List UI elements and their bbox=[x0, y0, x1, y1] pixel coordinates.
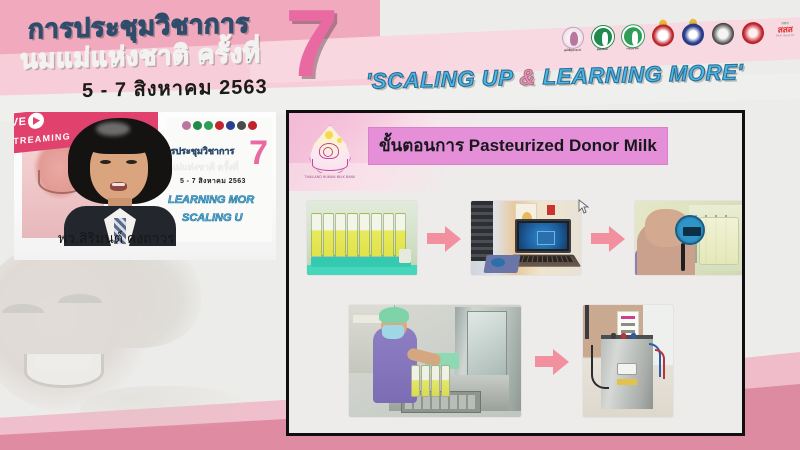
tagline-ampersand: & bbox=[519, 64, 542, 90]
droplet-cradle-arms bbox=[312, 159, 348, 171]
speaker-eye-left bbox=[100, 160, 111, 164]
slide-title: ขั้นตอนการ Pasteurized Donor Milk bbox=[368, 127, 668, 165]
arrow-3-icon bbox=[535, 348, 569, 374]
photo-pasteurizer-machine bbox=[583, 305, 673, 417]
institute-seal-logo bbox=[710, 23, 735, 52]
thaihealth-logo: สสส สสส THAI HEALTH bbox=[770, 21, 800, 50]
droplet-drop-large bbox=[325, 131, 333, 139]
process-row-2 bbox=[349, 305, 673, 417]
speaker-eye-right bbox=[126, 160, 137, 164]
speaker-mouth bbox=[110, 182, 127, 191]
droplet-baby-icon bbox=[319, 143, 339, 159]
process-row-1 bbox=[307, 201, 745, 275]
inner-poster-logos bbox=[166, 118, 272, 130]
conference-date: 5 - 7 สิงหาคม 2563 bbox=[82, 70, 268, 106]
university-crest-logo bbox=[650, 24, 675, 53]
speaker-name: พว.สิริมนต์ คงถาวร bbox=[58, 228, 175, 250]
photo-nurse-loading-bottles bbox=[349, 305, 521, 417]
video-inner-poster: การประชุมวิชาการ นมแม่แห่งชาติ ครั้งที่ … bbox=[166, 118, 272, 242]
droplet-logo-caption: THAILAND HUMAN MILK BANK bbox=[301, 175, 359, 179]
slide-screenshot: การประชุมวิชาการ นมแม่แห่งชาติ ครั้งที่ … bbox=[0, 0, 800, 450]
watermark-child-photo bbox=[0, 246, 294, 426]
live-badge-label: LIVE bbox=[14, 116, 26, 130]
tagline-prefix: 'SCALING UP bbox=[366, 65, 519, 94]
tagline-suffix: LEARNING MORE' bbox=[543, 59, 744, 89]
royal-crest-logo bbox=[680, 23, 705, 52]
watermark-teeth bbox=[34, 356, 92, 369]
inner-poster-tag-line2: SCALING U bbox=[182, 212, 243, 224]
ministry-public-health-logo: กรมอนามัย bbox=[620, 25, 645, 54]
droplet-drop-small bbox=[337, 138, 342, 143]
play-icon bbox=[28, 112, 44, 129]
royal-patronage-logo: มูลนิธิศูนย์นมแม่ bbox=[560, 26, 585, 55]
edition-number: 7 bbox=[285, 0, 338, 89]
watermark-body bbox=[80, 386, 260, 426]
arrow-1-icon bbox=[427, 225, 461, 251]
mouse-cursor bbox=[578, 199, 590, 215]
medical-council-logo bbox=[740, 22, 765, 51]
slide-content-panel: THAILAND HUMAN MILK BANK ขั้นตอนการ Past… bbox=[286, 110, 745, 436]
photo-milk-bottles-crate bbox=[307, 201, 417, 275]
inner-poster-date: 5 - 7 สิงหาคม 2563 bbox=[180, 176, 246, 187]
thai-breastfeeding-centre-logo: ศูนย์นมแม่ bbox=[590, 26, 615, 55]
photo-laptop-workstation bbox=[471, 201, 581, 275]
inner-poster-tag-line1: LEARNING MOR bbox=[168, 194, 254, 206]
milk-bank-droplet-logo: THAILAND HUMAN MILK BANK bbox=[301, 121, 359, 185]
inner-poster-edition: 7 bbox=[249, 136, 268, 170]
speaker-figure bbox=[62, 118, 178, 240]
speaker-hair-highlight bbox=[96, 122, 130, 136]
photo-hand-thermometer bbox=[635, 201, 745, 275]
arrow-2-icon bbox=[591, 225, 625, 251]
